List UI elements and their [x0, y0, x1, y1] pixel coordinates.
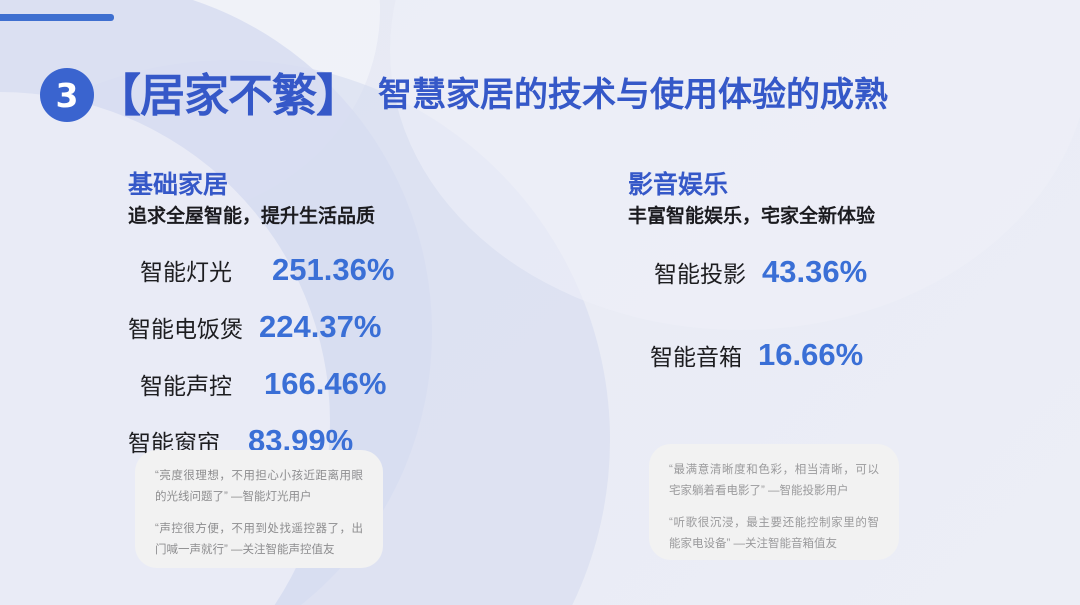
metric-value: 43.36%: [762, 256, 867, 287]
metric-list: 智能灯光 251.36% 智能电饭煲 224.37% 智能声控 166.46% …: [128, 254, 548, 456]
column-title: 基础家居: [128, 172, 548, 200]
metric-label: 智能投影: [654, 263, 746, 286]
metric-label: 智能声控: [140, 375, 232, 398]
column-basic-home: 基础家居 追求全屋智能，提升生活品质 智能灯光 251.36% 智能电饭煲 22…: [128, 172, 548, 456]
metric-value: 166.46%: [264, 368, 386, 399]
quote-card-av-entertainment: “最满意清晰度和色彩，相当清晰，可以宅家躺着看电影了” —智能投影用户 “听歌很…: [649, 444, 899, 560]
column-tagline: 追求全屋智能，提升生活品质: [128, 206, 548, 229]
slide-root: 3 【居家不繁】 智慧家居的技术与使用体验的成熟 基础家居 追求全屋智能，提升生…: [0, 0, 1080, 605]
metric-row: 智能声控 166.46%: [128, 368, 548, 399]
quote-text: “最满意清晰度和色彩，相当清晰，可以宅家躺着看电影了” —智能投影用户: [669, 460, 879, 503]
column-av-entertainment: 影音娱乐 丰富智能娱乐，宅家全新体验 智能投影 43.36% 智能音箱 16.6…: [628, 172, 1048, 370]
metric-row: 智能投影 43.36%: [628, 256, 1048, 287]
column-tagline: 丰富智能娱乐，宅家全新体验: [628, 206, 1048, 229]
title-subtitle-text: 智慧家居的技术与使用体验的成熟: [378, 78, 888, 112]
metric-row: 智能电饭煲 224.37%: [128, 311, 548, 342]
metric-label: 智能音箱: [650, 346, 742, 369]
section-number-badge: 3: [40, 68, 94, 122]
metric-row: 智能灯光 251.36%: [128, 254, 548, 285]
column-title: 影音娱乐: [628, 172, 1048, 200]
page-title: 3 【居家不繁】 智慧家居的技术与使用体验的成熟: [40, 68, 888, 122]
metric-value: 251.36%: [272, 254, 394, 285]
metric-label: 智能电饭煲: [128, 318, 243, 341]
title-bracketed-text: 【居家不繁】: [96, 73, 360, 118]
accent-bar: [0, 14, 114, 21]
metric-value: 224.37%: [259, 311, 381, 342]
quote-text: “声控很方便，不用到处找遥控器了，出门喊一声就行” —关注智能声控值友: [155, 519, 363, 562]
metric-row: 智能音箱 16.66%: [628, 339, 1048, 370]
quote-card-basic-home: “亮度很理想，不用担心小孩近距离用眼的光线问题了” —智能灯光用户 “声控很方便…: [135, 450, 383, 568]
metric-value: 16.66%: [758, 339, 863, 370]
quote-text: “听歌很沉浸，最主要还能控制家里的智能家电设备” —关注智能音箱值友: [669, 513, 879, 556]
quote-text: “亮度很理想，不用担心小孩近距离用眼的光线问题了” —智能灯光用户: [155, 466, 363, 509]
metric-list: 智能投影 43.36% 智能音箱 16.66%: [628, 256, 1048, 370]
metric-label: 智能灯光: [140, 261, 232, 284]
